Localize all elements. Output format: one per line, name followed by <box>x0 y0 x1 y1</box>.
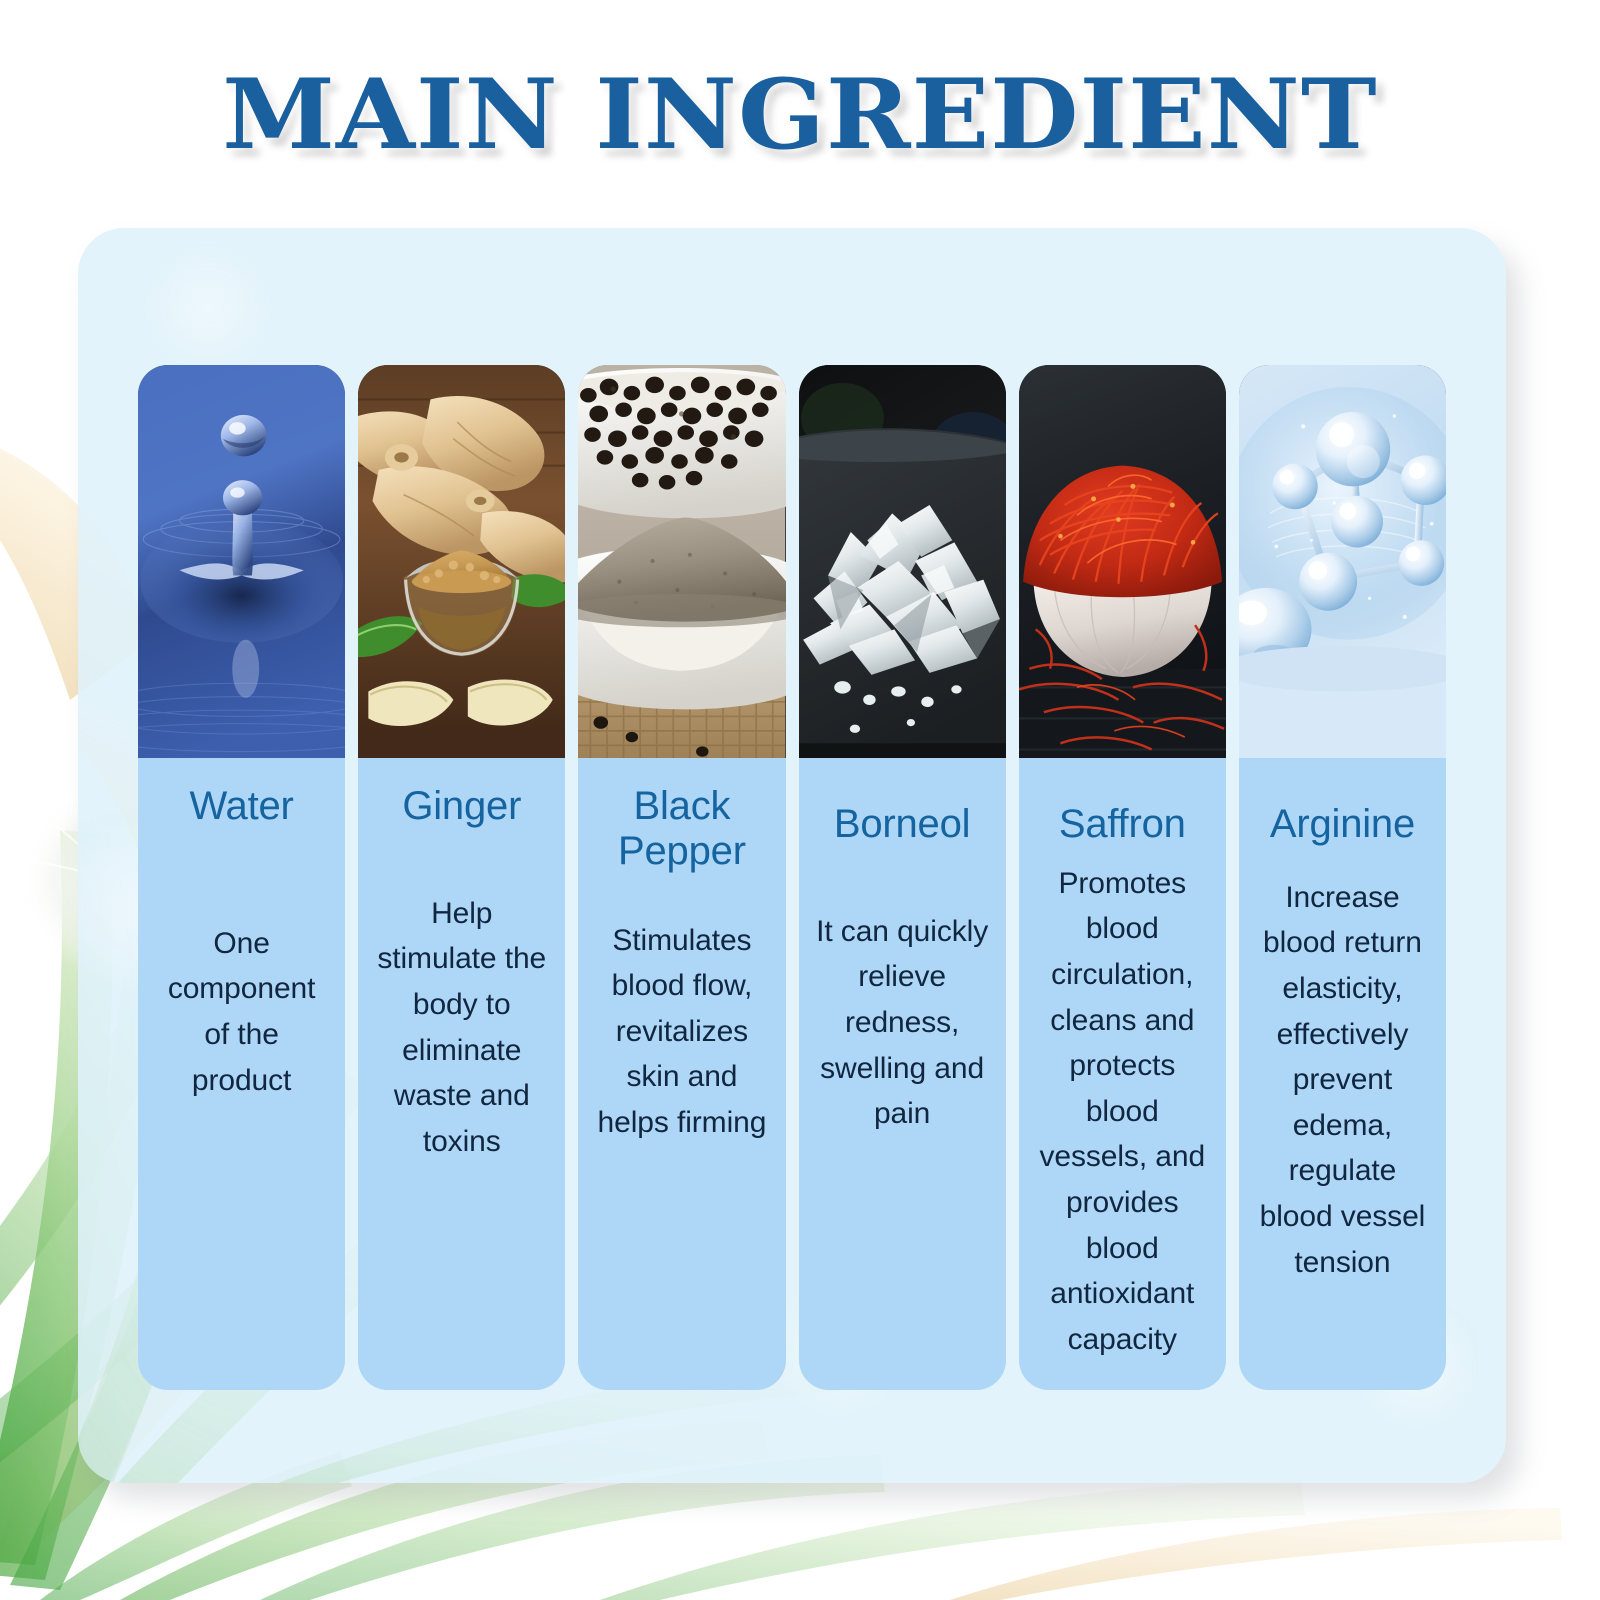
ingredient-description: Promotes blood circulation, cleans and p… <box>1033 861 1212 1363</box>
card-body: Black Pepper Stimulates blood flow, revi… <box>578 758 785 1390</box>
ingredient-card-arginine[interactable]: Arginine Increase blood return elasticit… <box>1239 365 1446 1390</box>
card-body: Saffron Promotes blood circulation, clea… <box>1019 758 1226 1390</box>
ingredient-name: Borneol <box>813 802 992 847</box>
page-title: MAIN INGREDIENT <box>222 58 1377 171</box>
ingredient-description: Increase blood return elasticity, effect… <box>1253 875 1432 1285</box>
borneol-crystals-photo <box>799 365 1006 758</box>
ingredient-card-black-pepper[interactable]: Black Pepper Stimulates blood flow, revi… <box>578 365 785 1390</box>
water-droplet-ripple-photo <box>138 365 345 758</box>
ginger-root-and-powder-photo <box>358 365 565 758</box>
ingredient-name: Black Pepper <box>592 784 771 874</box>
card-body: Water One component of the product <box>138 758 345 1390</box>
ingredient-name: Ginger <box>372 784 551 829</box>
ingredient-description: One component of the product <box>152 921 331 1103</box>
card-body: Arginine Increase blood return elasticit… <box>1239 758 1446 1390</box>
ingredient-cards: Water One component of the product <box>138 365 1446 1390</box>
ingredient-name: Arginine <box>1253 802 1432 847</box>
ingredient-name: Water <box>152 784 331 829</box>
ingredient-description: Help stimulate the body to eliminate was… <box>372 891 551 1165</box>
ingredient-description: It can quickly relieve redness, swelling… <box>813 909 992 1137</box>
card-body: Ginger Help stimulate the body to elimin… <box>358 758 565 1390</box>
ingredients-panel: Water One component of the product <box>78 228 1506 1483</box>
page-title-container: MAIN INGREDIENT <box>0 58 1600 171</box>
black-peppercorns-and-ground-pepper-photo <box>578 365 785 758</box>
card-body: Borneol It can quickly relieve redness, … <box>799 758 1006 1390</box>
ingredient-card-borneol[interactable]: Borneol It can quickly relieve redness, … <box>799 365 1006 1390</box>
arginine-molecule-model-photo <box>1239 365 1446 758</box>
ingredient-card-saffron[interactable]: Saffron Promotes blood circulation, clea… <box>1019 365 1226 1390</box>
saffron-threads-in-bowl-photo <box>1019 365 1226 758</box>
ingredient-name: Saffron <box>1033 802 1212 847</box>
ingredient-description: Stimulates blood flow, revitalizes skin … <box>592 918 771 1146</box>
ingredient-card-ginger[interactable]: Ginger Help stimulate the body to elimin… <box>358 365 565 1390</box>
ingredient-card-water[interactable]: Water One component of the product <box>138 365 345 1390</box>
